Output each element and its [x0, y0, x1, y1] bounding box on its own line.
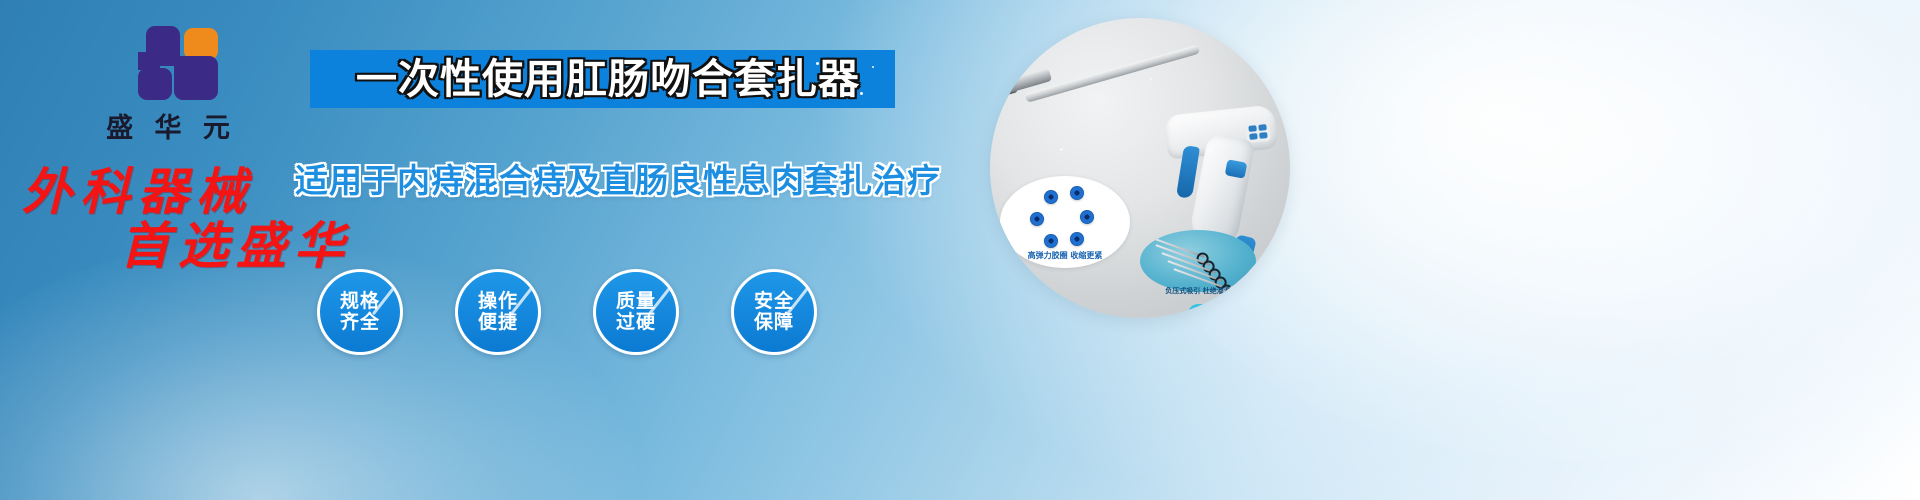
- feature-badge-line2: 齐全: [340, 312, 380, 333]
- rubber-ring-icon: [1070, 186, 1084, 200]
- feature-badge-line1: 安全: [754, 291, 794, 312]
- promo-banner: 盛 华 元 一次性使用肛肠吻合套扎器 适用于内痔混合痔及直肠良性息肉套扎治疗 外…: [0, 0, 1920, 500]
- device-control-panel-icon: [1245, 121, 1271, 143]
- rubber-ring-icon: [1070, 232, 1084, 246]
- rubber-ring-icon: [1030, 212, 1044, 226]
- feature-badge-line1: 质量: [616, 291, 656, 312]
- rubber-ring-icon: [1044, 190, 1058, 204]
- sparkle-icon: [860, 92, 863, 95]
- feature-badge-safety[interactable]: 安全 保障: [731, 269, 817, 355]
- tube-inset-photo: [1188, 304, 1290, 318]
- device-barrel: [1025, 45, 1201, 103]
- feature-badge-quality[interactable]: 质量 过硬: [593, 269, 679, 355]
- feature-badge-line1: 操作: [478, 291, 518, 312]
- brand-logo[interactable]: 盛 华 元: [68, 26, 268, 145]
- rubber-ring-icon: [1080, 210, 1094, 224]
- needles-inset-photo: [1140, 230, 1256, 292]
- brand-name: 盛 华 元: [68, 106, 268, 145]
- needles-caption: 负压式吸引 杜绝渗漏: [1138, 286, 1258, 296]
- sparkle-icon: [816, 62, 819, 65]
- rubber-ring-icon: [1044, 234, 1058, 248]
- feature-badge-line2: 过硬: [616, 312, 656, 333]
- logo-blocks-icon: [122, 26, 214, 100]
- sparkle-icon: [845, 80, 849, 84]
- feature-badge-specs[interactable]: 规格 齐全: [317, 269, 403, 355]
- product-photo[interactable]: 高弹力胶圈 收缩更紧 负压式吸引 杜绝渗漏: [990, 18, 1290, 318]
- sparkle-icon: [872, 66, 874, 68]
- background-glow-bottom-left: [0, 240, 640, 500]
- slogan-line-2: 首选盛华: [120, 206, 352, 278]
- page-subtitle: 适用于内痔混合痔及直肠良性息肉套扎治疗: [295, 158, 915, 204]
- feature-badge-operation[interactable]: 操作 便捷: [455, 269, 541, 355]
- feature-badge-line1: 规格: [340, 291, 380, 312]
- feature-badge-line2: 便捷: [478, 312, 518, 333]
- feature-badge-line2: 保障: [754, 312, 794, 333]
- rings-caption: 高弹力胶圈 收缩更紧: [1000, 250, 1130, 261]
- page-title: 一次性使用肛肠吻合套扎器: [328, 52, 888, 106]
